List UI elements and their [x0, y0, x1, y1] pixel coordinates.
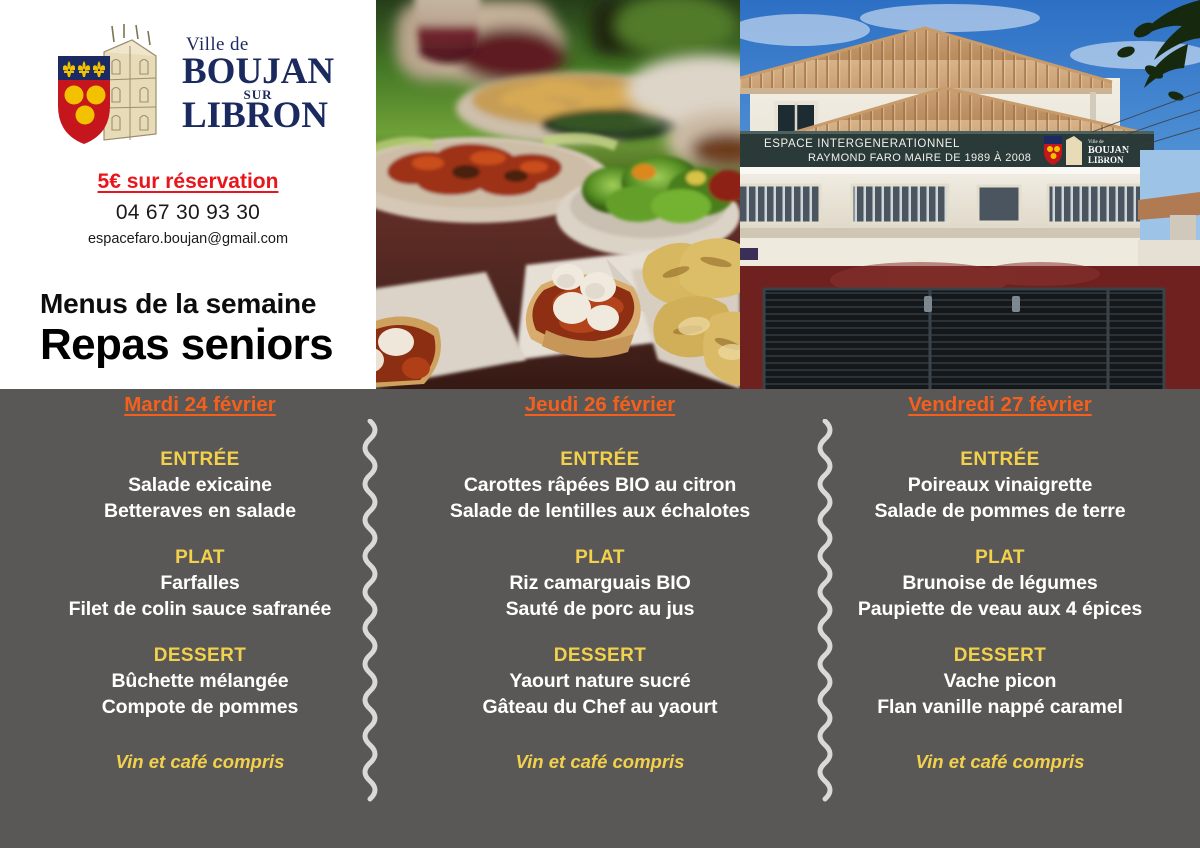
course-title-entree: ENTRÉE — [400, 449, 800, 471]
dish-item: Farfalles — [0, 572, 400, 595]
menu-column-jeudi: Jeudi 26 février ENTRÉE Carottes râpées … — [400, 389, 800, 848]
top-band: Ville de BOUJAN SUR LIBRON 5€ sur réserv… — [0, 0, 1200, 389]
building-photo: ESPACE INTERGENERATIONNEL RAYMOND FARO M… — [740, 0, 1200, 389]
building-sign-line-2: RAYMOND FARO MAIRE DE 1989 À 2008 — [808, 151, 1031, 164]
menu-area: Mardi 24 février ENTRÉE Salade exicaine … — [0, 389, 1200, 848]
course-title-plat: PLAT — [0, 547, 400, 569]
dish-item: Vache picon — [800, 670, 1200, 693]
dish-item: Filet de colin sauce safranée — [0, 598, 400, 621]
day-heading: Jeudi 26 février — [525, 393, 675, 417]
dish-item: Salade exicaine — [0, 474, 400, 497]
dish-item: Bûchette mélangée — [0, 670, 400, 693]
dish-item: Sauté de porc au jus — [400, 598, 800, 621]
page-title: Repas seniors — [40, 322, 376, 368]
included-note: Vin et café compris — [0, 751, 400, 773]
course-title-dessert: DESSERT — [400, 645, 800, 667]
dish-item: Salade de pommes de terre — [800, 500, 1200, 523]
day-heading: Mardi 24 février — [124, 393, 276, 417]
course-title-entree: ENTRÉE — [0, 449, 400, 471]
dish-item: Gâteau du Chef au yaourt — [400, 696, 800, 719]
dish-item: Poireaux vinaigrette — [800, 474, 1200, 497]
day-heading: Vendredi 27 février — [908, 393, 1091, 417]
course-dessert: DESSERT Yaourt nature sucré Gâteau du Ch… — [400, 645, 800, 719]
course-entree: ENTRÉE Poireaux vinaigrette Salade de po… — [800, 449, 1200, 523]
dish-item: Brunoise de légumes — [800, 572, 1200, 595]
city-logo-text: Ville de BOUJAN SUR LIBRON — [182, 35, 334, 138]
email-address[interactable]: espacefaro.boujan@gmail.com — [0, 231, 376, 247]
dish-item: Compote de pommes — [0, 696, 400, 719]
menu-column-mardi: Mardi 24 février ENTRÉE Salade exicaine … — [0, 389, 400, 848]
poster-root: Ville de BOUJAN SUR LIBRON 5€ sur réserv… — [0, 0, 1200, 848]
title-block: Menus de la semaine Repas seniors — [0, 288, 376, 368]
included-note: Vin et café compris — [800, 751, 1200, 773]
wavy-divider-1 — [356, 419, 384, 809]
course-entree: ENTRÉE Salade exicaine Betteraves en sal… — [0, 449, 400, 523]
info-panel: Ville de BOUJAN SUR LIBRON 5€ sur réserv… — [0, 0, 376, 389]
phone-number[interactable]: 04 67 30 93 30 — [0, 201, 376, 225]
menu-column-vendredi: Vendredi 27 février ENTRÉE Poireaux vina… — [800, 389, 1200, 848]
course-plat: PLAT Brunoise de légumes Paupiette de ve… — [800, 547, 1200, 621]
reservation-price: 5€ sur réservation — [98, 170, 279, 194]
dish-item: Paupiette de veau aux 4 épices — [800, 598, 1200, 621]
course-title-plat: PLAT — [800, 547, 1200, 569]
dish-item: Salade de lentilles aux échalotes — [400, 500, 800, 523]
course-title-dessert: DESSERT — [0, 645, 400, 667]
city-logo: Ville de BOUJAN SUR LIBRON — [52, 16, 352, 156]
course-plat: PLAT Riz camarguais BIO Sauté de porc au… — [400, 547, 800, 621]
dish-item: Riz camarguais BIO — [400, 572, 800, 595]
course-entree: ENTRÉE Carottes râpées BIO au citron Sal… — [400, 449, 800, 523]
page-subtitle: Menus de la semaine — [40, 288, 376, 320]
included-note: Vin et café compris — [400, 751, 800, 773]
menu-columns: Mardi 24 février ENTRÉE Salade exicaine … — [0, 389, 1200, 848]
wavy-divider-2 — [811, 419, 839, 809]
course-title-plat: PLAT — [400, 547, 800, 569]
course-title-dessert: DESSERT — [800, 645, 1200, 667]
course-dessert: DESSERT Bûchette mélangée Compote de pom… — [0, 645, 400, 719]
food-photo — [376, 0, 740, 389]
course-title-entree: ENTRÉE — [800, 449, 1200, 471]
coat-of-arms-icon — [52, 22, 172, 150]
course-dessert: DESSERT Vache picon Flan vanille nappé c… — [800, 645, 1200, 719]
logo-line-boujan: BOUJAN — [182, 53, 334, 90]
building-sign-line-1: ESPACE INTERGENERATIONNEL — [764, 138, 960, 150]
logo-line-libron: LIBRON — [182, 97, 334, 134]
contact-block: 5€ sur réservation 04 67 30 93 30 espace… — [0, 170, 376, 247]
dish-item: Betteraves en salade — [0, 500, 400, 523]
dish-item: Yaourt nature sucré — [400, 670, 800, 693]
dish-item: Flan vanille nappé caramel — [800, 696, 1200, 719]
course-plat: PLAT Farfalles Filet de colin sauce safr… — [0, 547, 400, 621]
dish-item: Carottes râpées BIO au citron — [400, 474, 800, 497]
